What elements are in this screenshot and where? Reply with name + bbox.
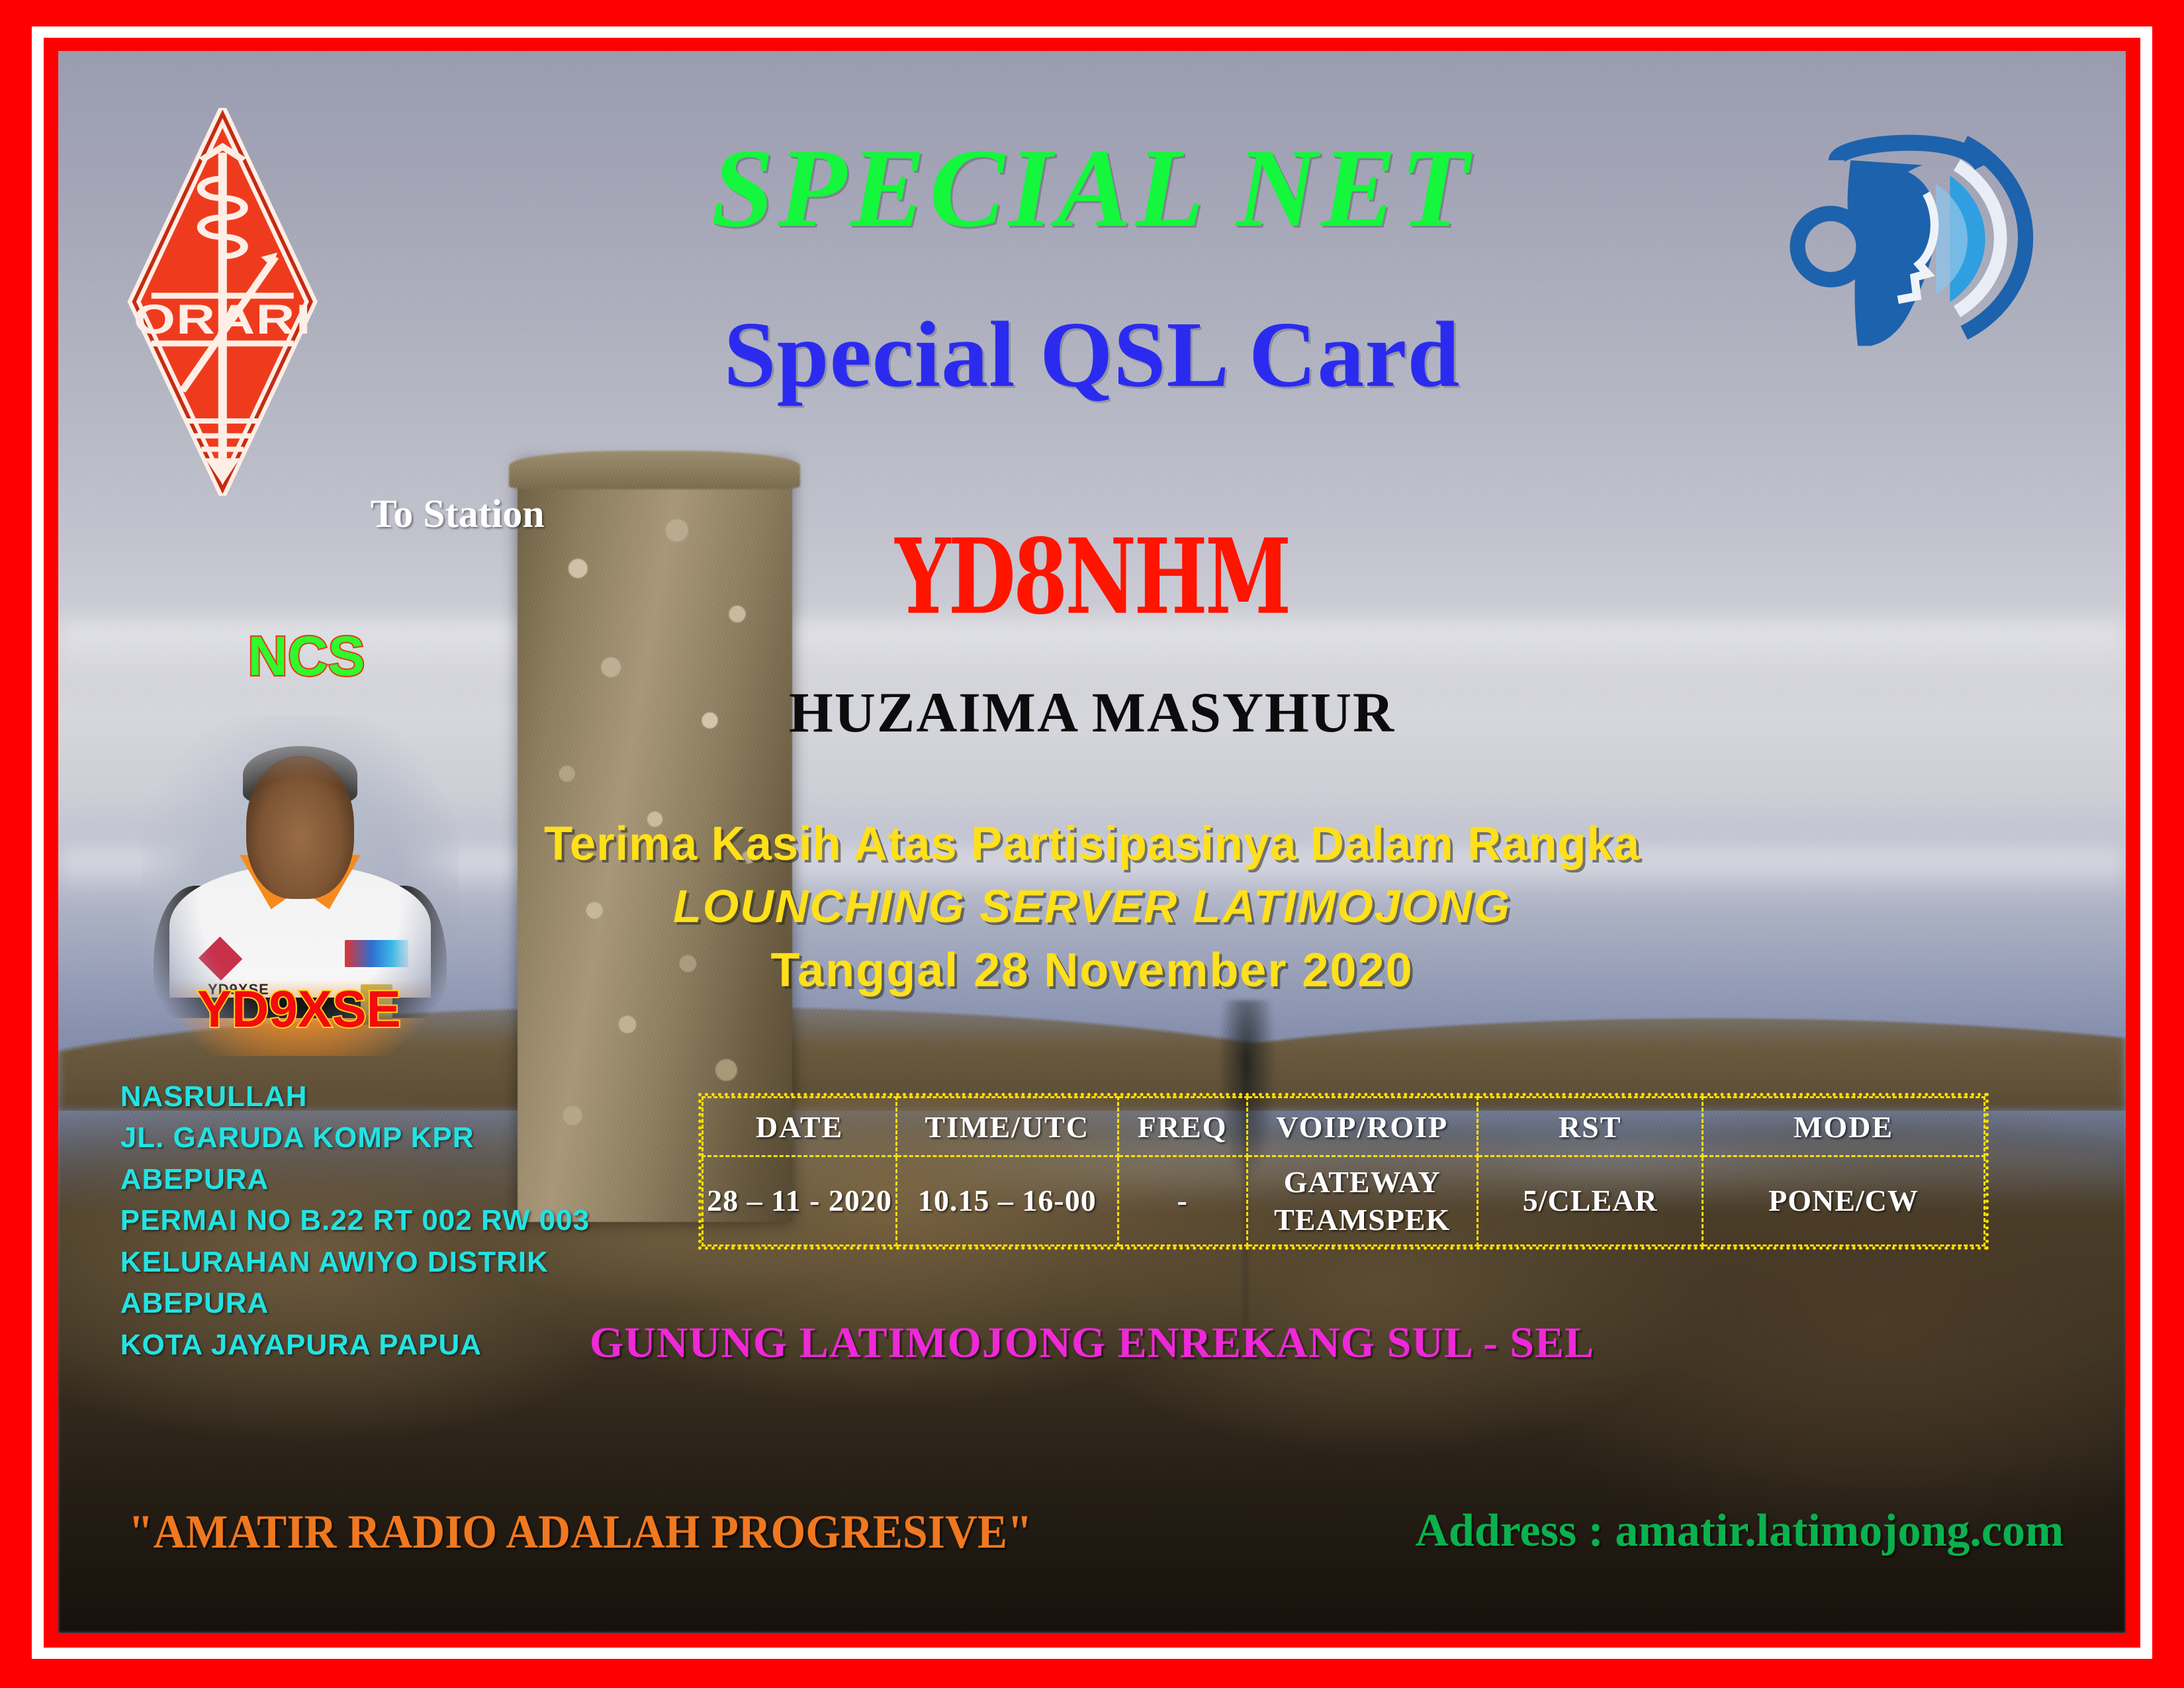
ncs-label: NCS xyxy=(161,628,451,684)
ncs-callsign: YD9XSE xyxy=(128,983,469,1035)
page-subtitle: Special QSL Card xyxy=(58,307,2126,401)
qsl-card: ORARI xyxy=(0,0,2184,1688)
column-header-time: TIME/UTC xyxy=(896,1097,1118,1156)
column-header-voip-roip: VOIP/ROIP xyxy=(1247,1097,1477,1156)
column-header-rst: RST xyxy=(1477,1097,1703,1156)
table-row: 28 – 11 - 2020 10.15 – 16-00 - GATEWAY T… xyxy=(703,1156,1984,1245)
qso-details-table: DATE TIME/UTC FREQ VOIP/ROIP RST MODE 28… xyxy=(698,1093,1988,1250)
cell-time: 10.15 – 16-00 xyxy=(896,1156,1118,1245)
address-line: JL. GARUDA KOMP KPR xyxy=(120,1117,590,1158)
shirt-patch-right xyxy=(345,940,408,967)
column-header-date: DATE xyxy=(703,1097,897,1156)
operator-face xyxy=(246,756,355,899)
footer-slogan: "AMATIR RADIO ADALAH PROGRESIVE" xyxy=(128,1508,1032,1556)
card-photo-background: ORARI xyxy=(58,51,2126,1633)
card-inner-red-border: ORARI xyxy=(44,38,2140,1648)
cell-rst: 5/CLEAR xyxy=(1477,1156,1703,1245)
column-header-mode: MODE xyxy=(1703,1097,1984,1156)
address-line: PERMAI NO B.22 RT 002 RW 003 xyxy=(120,1200,590,1241)
cell-mode: PONE/CW xyxy=(1703,1156,1984,1245)
cell-voip-roip: GATEWAY TEAMSPEK xyxy=(1247,1156,1477,1245)
page-title: SPECIAL NET xyxy=(58,132,2126,244)
card-white-gap: ORARI xyxy=(32,26,2152,1659)
cell-voip-roip-line2: TEAMSPEK xyxy=(1248,1201,1477,1239)
address-line: KELURAHAN AWIYO DISTRIK xyxy=(120,1242,590,1283)
station-callsign: YD8NHM xyxy=(141,526,2043,629)
address-line: ABEPURA xyxy=(120,1159,590,1200)
cell-voip-roip-line1: GATEWAY xyxy=(1248,1163,1477,1201)
table-header-row: DATE TIME/UTC FREQ VOIP/ROIP RST MODE xyxy=(703,1097,1984,1156)
address-line: ABEPURA xyxy=(120,1283,590,1324)
address-line: NASRULLAH xyxy=(120,1076,590,1117)
cell-freq: - xyxy=(1118,1156,1247,1245)
cell-date: 28 – 11 - 2020 xyxy=(703,1156,897,1245)
location-caption: GUNUNG LATIMOJONG ENREKANG SUL - SEL xyxy=(58,1321,2126,1365)
footer-web-address: Address : amatir.latimojong.com xyxy=(1415,1508,2064,1554)
column-header-freq: FREQ xyxy=(1118,1097,1247,1156)
